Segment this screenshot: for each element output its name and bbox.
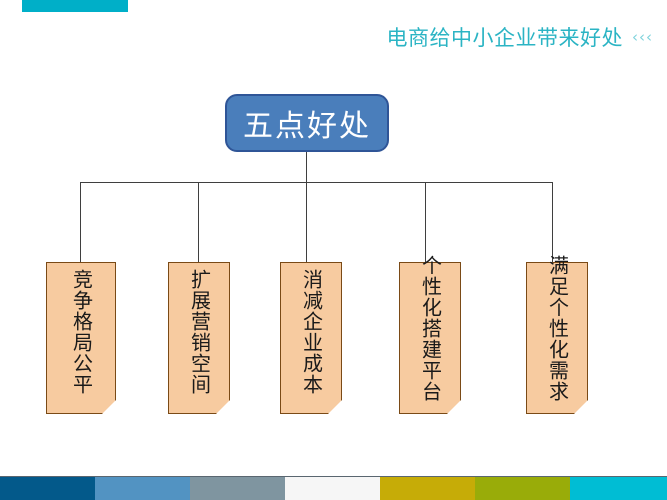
page-fold-icon <box>102 400 116 414</box>
band-medium-blue <box>95 477 190 500</box>
diagram-leaf-node-5[interactable]: 满足个性化需求 <box>526 262 588 414</box>
page-title: 电商给中小企业带来好处 <box>387 22 624 52</box>
page-fold-icon <box>328 400 342 414</box>
diagram-leaf-label-1: 竞争格局公平 <box>71 263 92 395</box>
chevron-left-triple-icon: ‹‹‹ <box>632 30 653 45</box>
band-white <box>285 477 380 500</box>
page-fold-icon <box>216 400 230 414</box>
diagram-leaf-label-3: 消减企业成本 <box>301 263 322 395</box>
top-accent-bar <box>22 0 128 12</box>
diagram-leaf-label-5: 满足个性化需求 <box>547 249 568 402</box>
band-gold <box>380 477 475 500</box>
band-slate <box>190 477 285 500</box>
band-cyan <box>570 477 667 500</box>
diagram-leaf-node-4[interactable]: 个性化搭建平台 <box>399 262 461 414</box>
band-olive <box>475 477 570 500</box>
diagram-leaf-node-2[interactable]: 扩展营销空间 <box>168 262 230 414</box>
band-dark-blue <box>0 477 95 500</box>
slide-title: 电商给中小企业带来好处 ‹‹‹ <box>387 22 654 52</box>
diagram-leaf-node-1[interactable]: 竞争格局公平 <box>46 262 116 414</box>
connector-drop-1 <box>80 182 81 262</box>
footer-color-strip <box>0 476 667 500</box>
page-fold-icon <box>447 400 461 414</box>
connector-horizontal-bus <box>80 182 552 183</box>
connector-drop-3 <box>306 182 307 262</box>
diagram-root-node[interactable]: 五点好处 <box>225 94 389 152</box>
diagram-root-label: 五点好处 <box>243 101 371 145</box>
diagram-leaf-label-4: 个性化搭建平台 <box>420 249 441 402</box>
connector-drop-2 <box>198 182 199 262</box>
connector-root-stem <box>306 152 307 183</box>
page-fold-icon <box>574 400 588 414</box>
diagram-leaf-label-2: 扩展营销空间 <box>189 263 210 395</box>
diagram-leaf-node-3[interactable]: 消减企业成本 <box>280 262 342 414</box>
